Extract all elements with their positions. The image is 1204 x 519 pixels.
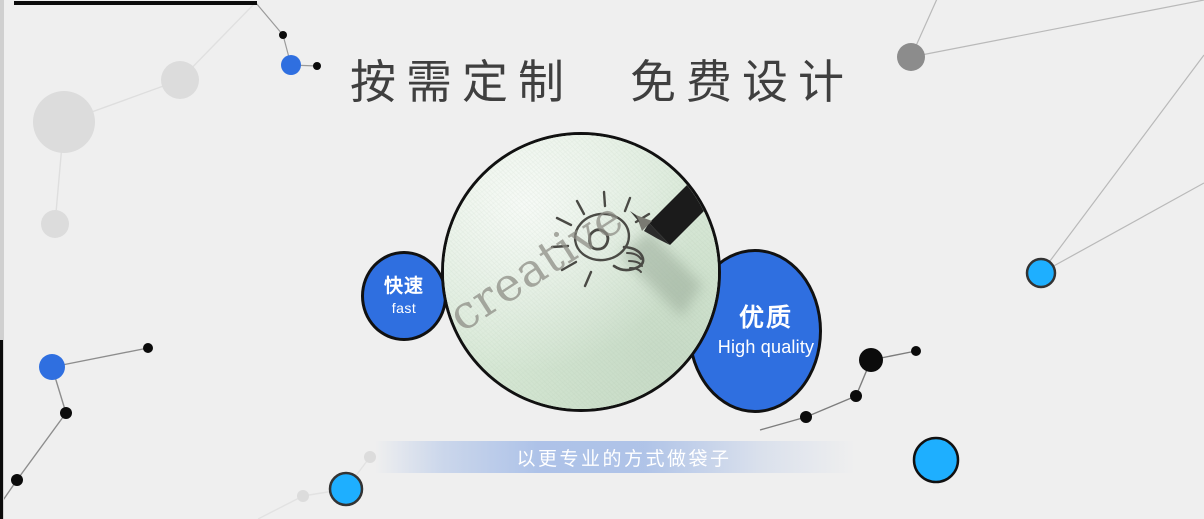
network-line <box>256 3 283 35</box>
network-node <box>279 31 287 39</box>
network-line <box>258 496 303 519</box>
tagline-text: 以更专业的方式做袋子 <box>498 444 731 471</box>
network-node <box>143 343 153 353</box>
network-node <box>800 411 812 423</box>
network-node <box>330 473 362 505</box>
network-node <box>850 390 862 402</box>
network-node <box>859 348 883 372</box>
bubble-quality-en-label: High quality <box>718 337 814 358</box>
network-line <box>1041 183 1204 273</box>
network-node <box>1027 259 1055 287</box>
network-node <box>60 407 72 419</box>
network-line <box>55 122 64 224</box>
network-node <box>914 438 958 482</box>
network-line <box>17 413 66 480</box>
network-node <box>39 354 65 380</box>
top-edge-black-bar <box>14 1 257 5</box>
network-node <box>41 210 69 238</box>
network-line <box>856 360 871 396</box>
bubble-quality-cn-label: 优质 <box>739 304 793 333</box>
svg-text:creative: creative <box>444 190 633 342</box>
network-node <box>11 474 23 486</box>
tagline-ribbon: 以更专业的方式做袋子 <box>375 441 855 473</box>
left-edge-black-bar <box>0 340 3 519</box>
page-title: 按需定制 免费设计 <box>0 46 1204 112</box>
lightbulb-sketch-icon: creative <box>444 135 721 412</box>
network-line <box>346 457 370 489</box>
network-line <box>871 351 916 360</box>
network-node <box>911 346 921 356</box>
network-line <box>806 396 856 417</box>
creative-photo-circle: creative <box>441 132 721 412</box>
promo-banner: 按需定制 免费设计 <box>0 0 1204 519</box>
network-line <box>760 417 806 430</box>
feature-bubble-fast[interactable]: 快速 fast <box>361 251 447 341</box>
creative-photo-image: creative <box>444 135 718 409</box>
bubble-fast-cn-label: 快速 <box>384 276 424 298</box>
network-line <box>52 367 66 413</box>
network-line <box>52 348 148 367</box>
network-line <box>303 489 346 496</box>
bubble-fast-en-label: fast <box>392 300 417 316</box>
network-node <box>297 490 309 502</box>
